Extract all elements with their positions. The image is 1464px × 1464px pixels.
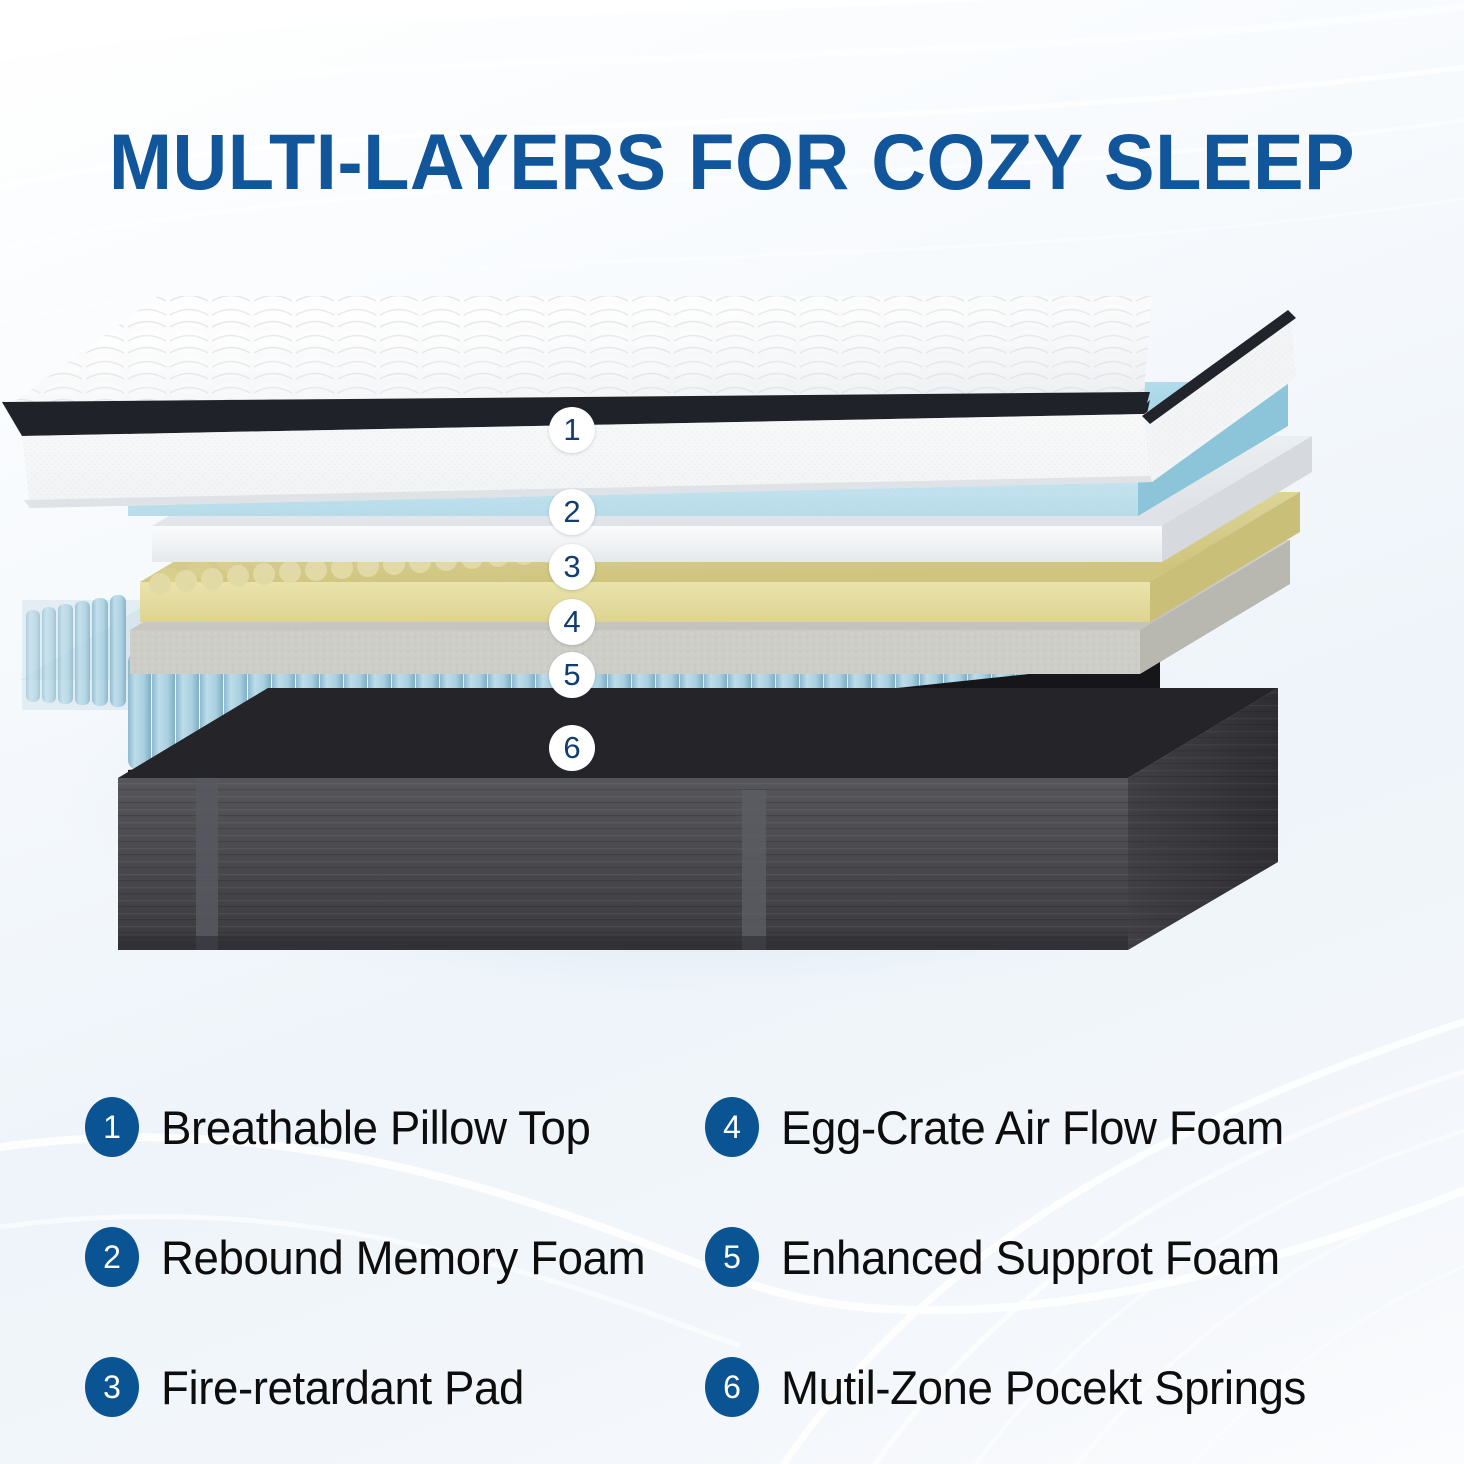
legend-label-6: Mutil-Zone Pocekt Springs xyxy=(781,1360,1306,1415)
legend-label-5: Enhanced Supprot Foam xyxy=(781,1230,1280,1285)
legend-badge-3: 3 xyxy=(85,1357,139,1417)
callout-badge-5[interactable]: 5 xyxy=(549,652,595,698)
legend-item-5[interactable]: 5 Enhanced Supprot Foam xyxy=(675,1192,1404,1322)
legend-item-1[interactable]: 1 Breathable Pillow Top xyxy=(0,1062,675,1192)
callout-badge-6[interactable]: 6 xyxy=(549,725,595,771)
callout-badge-2[interactable]: 2 xyxy=(549,489,595,535)
legend-label-2: Rebound Memory Foam xyxy=(161,1230,645,1285)
callout-badge-1[interactable]: 1 xyxy=(549,407,595,453)
legend-item-6[interactable]: 6 Mutil-Zone Pocekt Springs xyxy=(675,1322,1404,1452)
legend-label-3: Fire-retardant Pad xyxy=(161,1360,524,1415)
legend-item-2[interactable]: 2 Rebound Memory Foam xyxy=(0,1192,675,1322)
legend-badge-6: 6 xyxy=(705,1357,759,1417)
layer-legend: 1 Breathable Pillow Top 4 Egg-Crate Air … xyxy=(0,1062,1464,1462)
callout-badge-4[interactable]: 4 xyxy=(549,599,595,645)
legend-badge-4: 4 xyxy=(705,1097,759,1157)
legend-badge-1: 1 xyxy=(85,1097,139,1157)
legend-badge-2: 2 xyxy=(85,1227,139,1287)
mattress-illustration xyxy=(0,250,1464,1040)
legend-label-4: Egg-Crate Air Flow Foam xyxy=(781,1100,1284,1155)
page-title: MULTI-LAYERS FOR COZY SLEEP xyxy=(29,116,1434,208)
legend-item-3[interactable]: 3 Fire-retardant Pad xyxy=(0,1322,675,1452)
legend-item-4[interactable]: 4 Egg-Crate Air Flow Foam xyxy=(675,1062,1404,1192)
infographic-page: MULTI-LAYERS FOR COZY SLEEP xyxy=(0,0,1464,1464)
callout-badge-3[interactable]: 3 xyxy=(549,544,595,590)
legend-badge-5: 5 xyxy=(705,1227,759,1287)
legend-label-1: Breathable Pillow Top xyxy=(161,1100,590,1155)
